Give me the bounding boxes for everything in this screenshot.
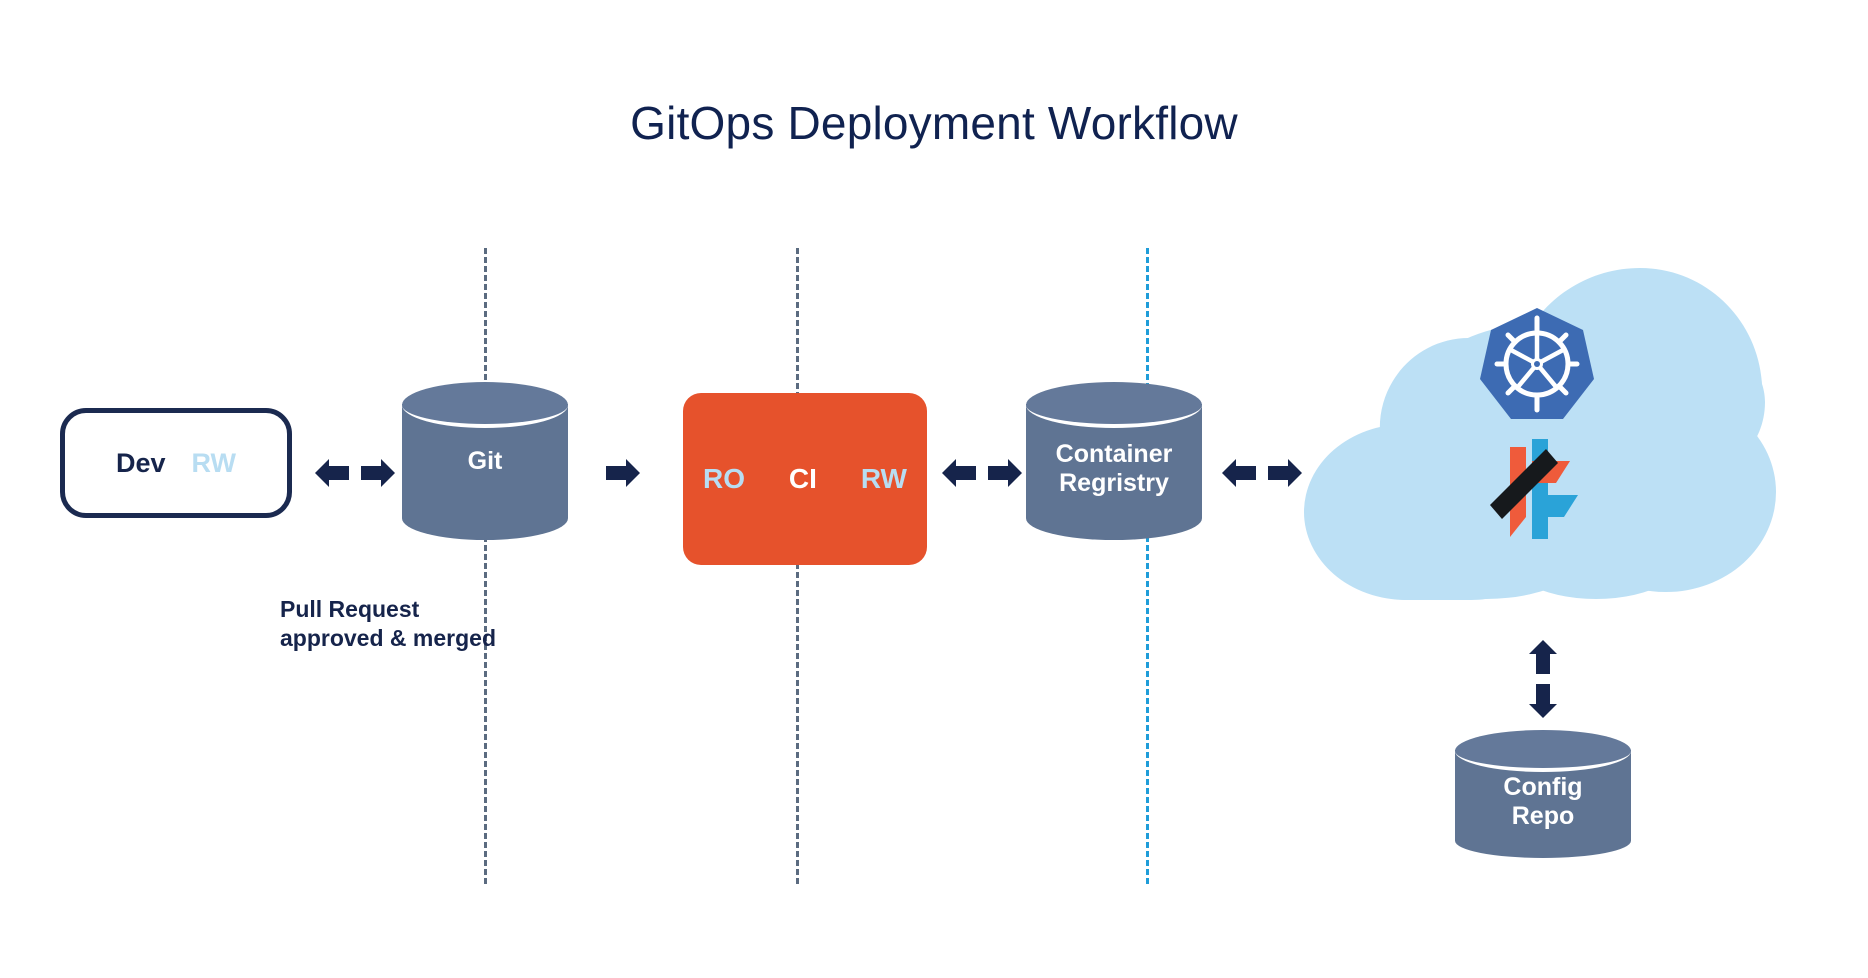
flux-logo [1490, 439, 1578, 539]
lifeline-ci [796, 248, 799, 884]
kubernetes-logo [1480, 308, 1594, 419]
connector-ci-registry [942, 455, 1022, 491]
config-repo-label-line1: Config [1503, 773, 1582, 803]
connector-git-ci [606, 455, 640, 496]
registry-label-line1: Container [1056, 440, 1173, 470]
node-container-registry-label: Container Regristry [1026, 390, 1202, 548]
arrow-right-icon [1268, 455, 1302, 491]
arrow-left-icon [315, 455, 349, 491]
annotation-pull-request: Pull Request approved & merged [280, 595, 510, 654]
node-dev-permission: RW [192, 448, 237, 479]
node-dev[interactable]: Dev RW [60, 408, 292, 518]
arrow-left-icon [1222, 455, 1256, 491]
arrow-right-icon [988, 455, 1022, 491]
node-config-repo[interactable]: Config Repo [1455, 730, 1631, 858]
node-dev-label: Dev [116, 448, 166, 479]
connector-registry-cluster [1222, 455, 1302, 491]
node-ci-permission-right: RW [861, 463, 907, 495]
node-git[interactable]: Git [402, 382, 568, 540]
lifeline-git [484, 248, 487, 884]
node-container-registry[interactable]: Container Regristry [1026, 382, 1202, 540]
registry-label-line2: Regristry [1059, 469, 1169, 499]
diagram-canvas: GitOps Deployment Workflow Dev RW Git Pu… [0, 0, 1868, 978]
page-title: GitOps Deployment Workflow [0, 96, 1868, 150]
connector-cluster-config-repo [1525, 640, 1561, 718]
node-ci-permission-left: RO [703, 463, 745, 495]
cluster-logos [1472, 306, 1602, 556]
node-ci-label: CI [789, 463, 817, 495]
node-config-repo-label: Config Repo [1455, 738, 1631, 866]
arrow-right-icon [361, 455, 395, 491]
arrow-left-icon [942, 455, 976, 491]
node-ci[interactable]: RO CI RW [683, 393, 927, 565]
arrow-down-icon [1525, 684, 1561, 718]
node-git-label: Git [402, 382, 568, 540]
lifeline-registry [1146, 248, 1149, 884]
config-repo-label-line2: Repo [1512, 802, 1575, 832]
arrow-up-icon [1525, 640, 1561, 674]
arrow-right-icon [606, 455, 640, 491]
connector-dev-git [315, 455, 395, 491]
